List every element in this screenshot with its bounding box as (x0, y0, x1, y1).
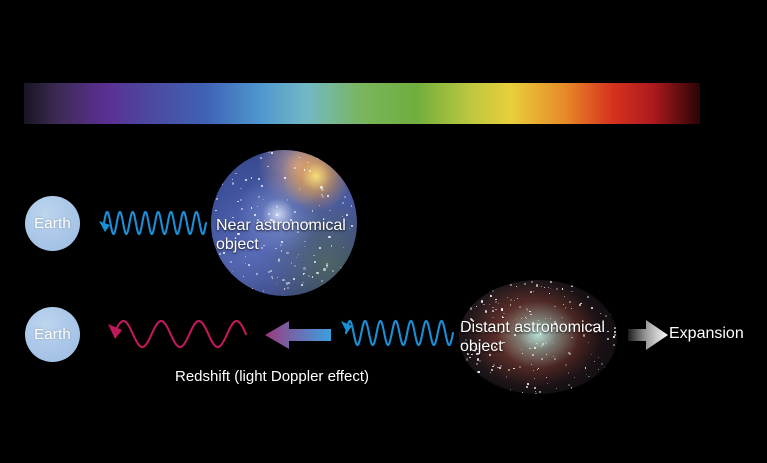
expansion-arrow (628, 320, 668, 350)
diagram-canvas: Earth Near astronomical object Earth Dis… (0, 0, 767, 463)
redshifted-wave-arrowhead (108, 324, 122, 339)
far-row-emitted-wave (341, 321, 453, 345)
wave-and-arrow-layer (0, 0, 767, 463)
wavelength-shift-arrow (265, 321, 331, 349)
expansion-label: Expansion (669, 325, 744, 343)
near-row-light-wave (99, 212, 206, 234)
far-row-redshifted-wave (108, 321, 246, 347)
redshift-caption: Redshift (light Doppler effect) (175, 368, 369, 385)
